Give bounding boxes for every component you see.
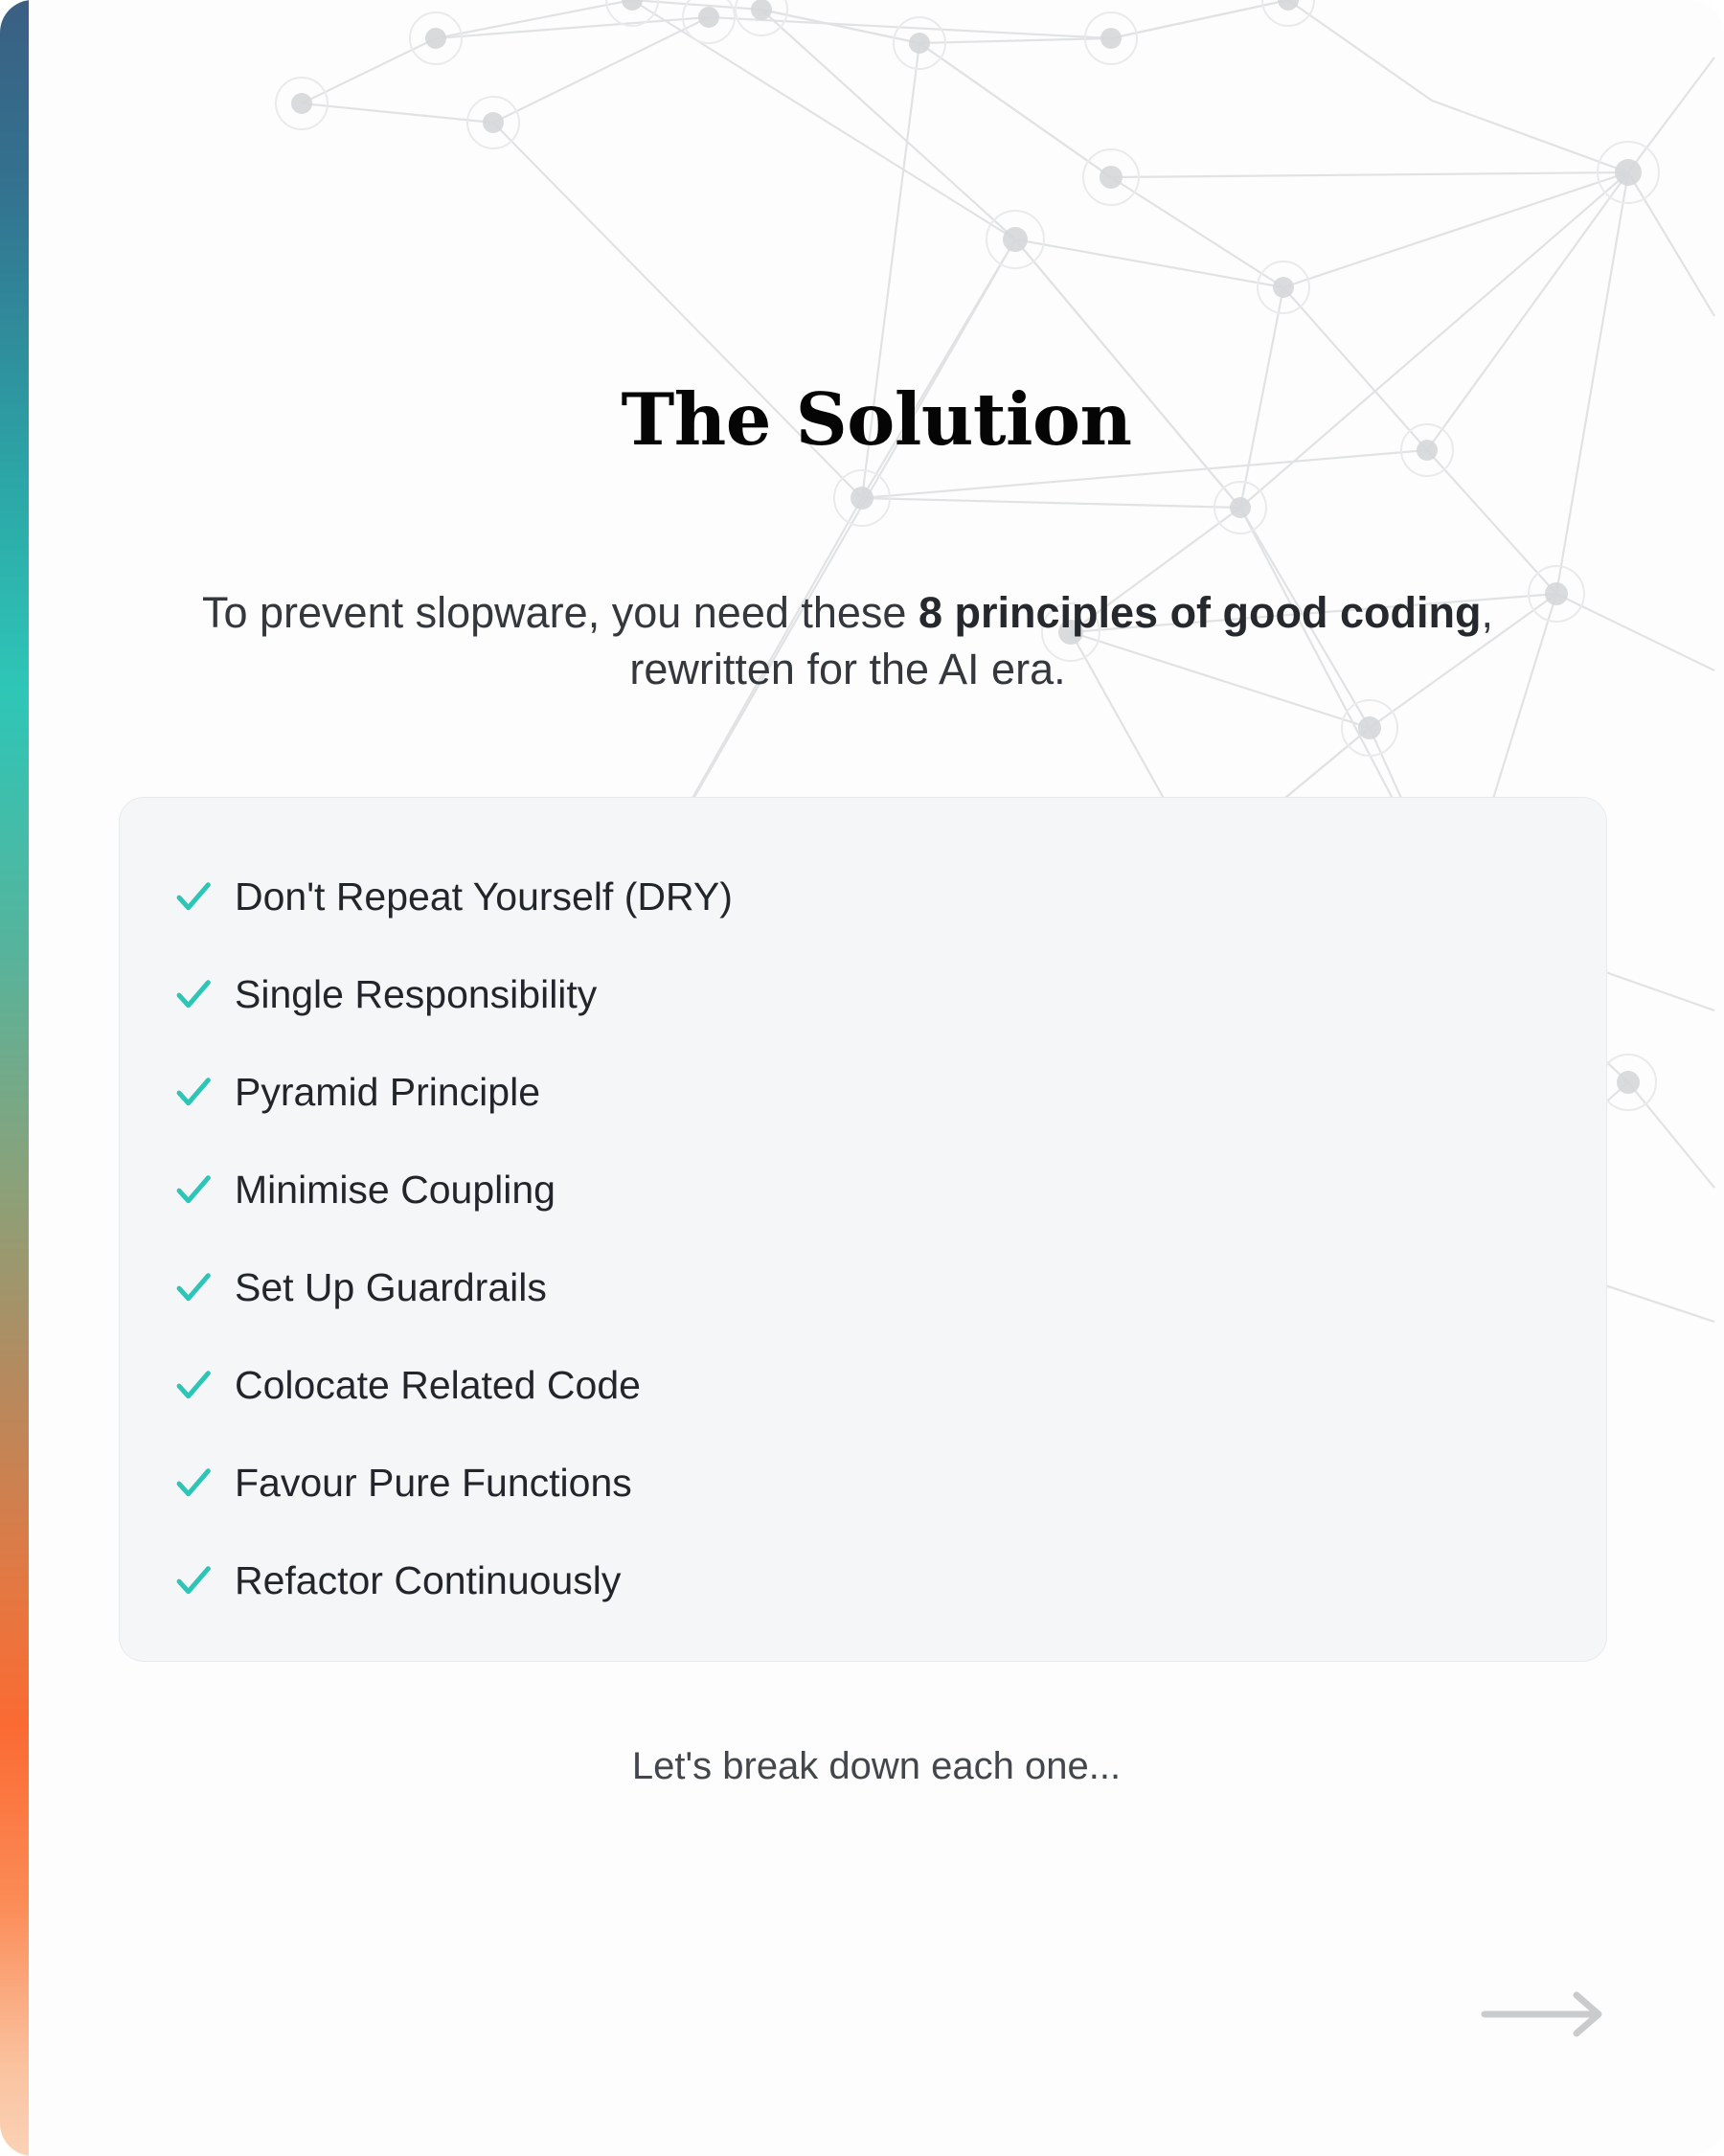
check-icon: [171, 1363, 215, 1407]
list-item: Minimise Coupling: [120, 1141, 1606, 1238]
list-item: Set Up Guardrails: [120, 1238, 1606, 1336]
principles-card: Don't Repeat Yourself (DRY) Single Respo…: [119, 797, 1607, 1662]
list-item-label: Colocate Related Code: [235, 1366, 641, 1405]
list-item-label: Minimise Coupling: [235, 1170, 556, 1210]
list-item: Pyramid Principle: [120, 1043, 1606, 1141]
list-item-label: Set Up Guardrails: [235, 1268, 547, 1307]
check-icon: [171, 1265, 215, 1309]
check-icon: [171, 1168, 215, 1212]
list-item: Colocate Related Code: [120, 1336, 1606, 1434]
list-item: Single Responsibility: [120, 945, 1606, 1043]
list-item: Favour Pure Functions: [120, 1434, 1606, 1532]
subtitle-emphasis: 8 principles of good coding: [919, 588, 1482, 637]
list-item: Don't Repeat Yourself (DRY): [120, 848, 1606, 945]
subtitle-lead: To prevent slopware, you need these: [202, 588, 919, 637]
list-item: Refactor Continuously: [120, 1532, 1606, 1629]
check-icon: [171, 1461, 215, 1505]
check-icon: [171, 972, 215, 1016]
page-subtitle: To prevent slopware, you need these 8 pr…: [168, 584, 1528, 698]
check-icon: [171, 874, 215, 919]
check-icon: [171, 1070, 215, 1114]
accent-gradient-bar: [0, 0, 29, 2156]
list-item-label: Pyramid Principle: [235, 1073, 540, 1112]
check-icon: [171, 1558, 215, 1602]
list-item-label: Don't Repeat Yourself (DRY): [235, 877, 733, 917]
footer-note: Let's break down each one...: [29, 1745, 1724, 1788]
slide-canvas: The Solution To prevent slopware, you ne…: [0, 0, 1724, 2156]
list-item-label: Refactor Continuously: [235, 1561, 621, 1600]
arrow-right-icon[interactable]: [1481, 1990, 1607, 2038]
list-item-label: Single Responsibility: [235, 975, 597, 1014]
page-title: The Solution: [29, 382, 1724, 458]
list-item-label: Favour Pure Functions: [235, 1464, 632, 1503]
